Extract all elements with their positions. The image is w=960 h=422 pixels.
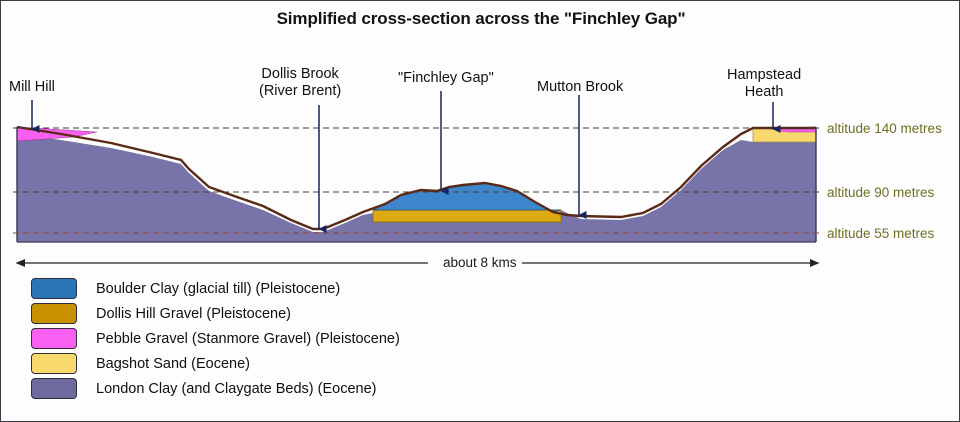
legend-swatch-dollis-gravel xyxy=(31,303,77,324)
legend-swatch-pebble-gravel xyxy=(31,328,77,349)
legend-label-pebble-gravel: Pebble Gravel (Stanmore Gravel) (Pleisto… xyxy=(96,331,400,347)
dollis-hill-gravel-layer xyxy=(373,210,561,222)
altitude-140-label: altitude 140 metres xyxy=(827,121,942,136)
altitude-55-label: altitude 55 metres xyxy=(827,226,934,241)
mill-hill-label: Mill Hill xyxy=(9,79,55,96)
legend-swatch-bagshot-sand xyxy=(31,353,77,374)
legend-label-london-clay: London Clay (and Claygate Beds) (Eocene) xyxy=(96,381,377,397)
legend: Boulder Clay (glacial till) (Pleistocene… xyxy=(31,276,400,401)
finchley-gap-label: "Finchley Gap" xyxy=(398,70,494,87)
legend-row-boulder-clay: Boulder Clay (glacial till) (Pleistocene… xyxy=(31,276,400,301)
legend-row-dollis-gravel: Dollis Hill Gravel (Pleistocene) xyxy=(31,301,400,326)
mutton-brook-label: Mutton Brook xyxy=(537,79,623,96)
legend-row-pebble-gravel: Pebble Gravel (Stanmore Gravel) (Pleisto… xyxy=(31,326,400,351)
hampstead-heath-label: Hampstead Heath xyxy=(727,67,801,100)
legend-row-bagshot-sand: Bagshot Sand (Eocene) xyxy=(31,351,400,376)
geological-cross-section-figure: Simplified cross-section across the "Fin… xyxy=(0,0,960,422)
scale-bar-label: about 8 kms xyxy=(438,255,522,270)
legend-label-bagshot-sand: Bagshot Sand (Eocene) xyxy=(96,356,250,372)
legend-row-london-clay: London Clay (and Claygate Beds) (Eocene) xyxy=(31,376,400,401)
boulder-clay-layer xyxy=(373,183,561,212)
legend-label-dollis-gravel: Dollis Hill Gravel (Pleistocene) xyxy=(96,306,291,322)
altitude-90-label: altitude 90 metres xyxy=(827,185,934,200)
legend-label-boulder-clay: Boulder Clay (glacial till) (Pleistocene… xyxy=(96,281,340,297)
dollis-brook-label: Dollis Brook (River Brent) xyxy=(259,66,341,99)
legend-swatch-boulder-clay xyxy=(31,278,77,299)
legend-swatch-london-clay xyxy=(31,378,77,399)
